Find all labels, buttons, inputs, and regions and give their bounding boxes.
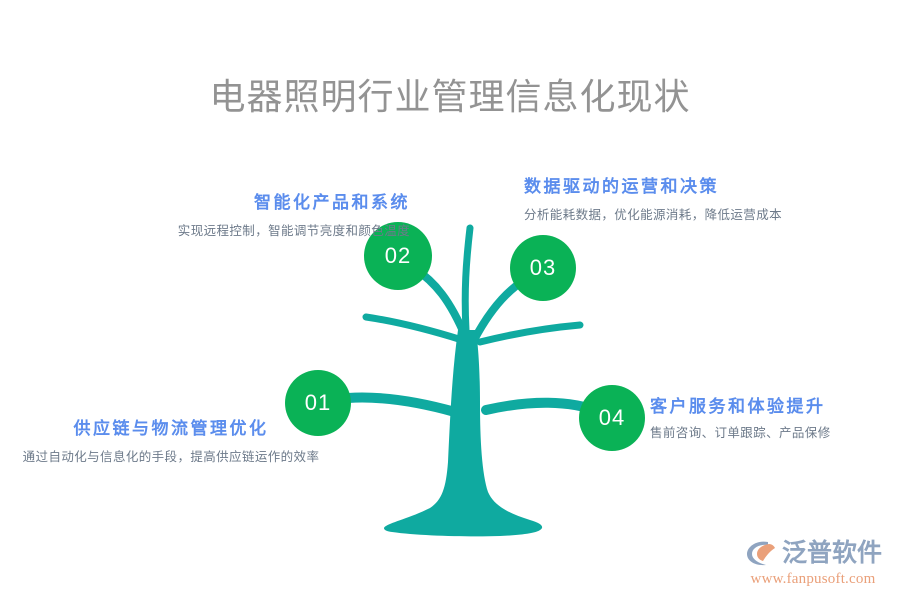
node-body-04: 售前咨询、订单跟踪、产品保修 [650, 423, 900, 445]
node-heading-02: 智能化产品和系统 [60, 192, 410, 215]
tree-trunk [384, 330, 542, 536]
infographic-canvas: 电器照明行业管理信息化现状 01 02 03 04 供应链与物流管理优化 [0, 0, 900, 600]
node-heading-04: 客户服务和体验提升 [650, 396, 900, 419]
node-text-04: 客户服务和体验提升 售前咨询、订单跟踪、产品保修 [650, 396, 900, 445]
brand-url: www.fanpusoft.com [751, 571, 876, 588]
node-body-02: 实现远程控制，智能调节亮度和颜色温度 [60, 221, 410, 243]
node-body-03: 分析能耗数据，优化能源消耗，降低运营成本 [524, 205, 854, 227]
page-title: 电器照明行业管理信息化现状 [0, 68, 900, 120]
brand-row: 泛普软件 [744, 538, 882, 568]
node-heading-01: 供应链与物流管理优化 [6, 418, 336, 441]
node-text-03: 数据驱动的运营和决策 分析能耗数据，优化能源消耗，降低运营成本 [524, 176, 854, 227]
node-badge-03[interactable]: 03 [510, 235, 576, 301]
brand-watermark: 泛普软件 www.fanpusoft.com [744, 538, 882, 588]
node-body-01: 通过自动化与信息化的手段，提高供应链运作的效率 [6, 447, 336, 469]
brand-name: 泛普软件 [782, 541, 882, 566]
node-text-02: 智能化产品和系统 实现远程控制，智能调节亮度和颜色温度 [60, 192, 410, 243]
node-badge-04[interactable]: 04 [579, 385, 645, 451]
fanpu-logo-icon [744, 538, 778, 568]
node-heading-03: 数据驱动的运营和决策 [524, 176, 854, 199]
node-text-01: 供应链与物流管理优化 通过自动化与信息化的手段，提高供应链运作的效率 [6, 418, 336, 469]
